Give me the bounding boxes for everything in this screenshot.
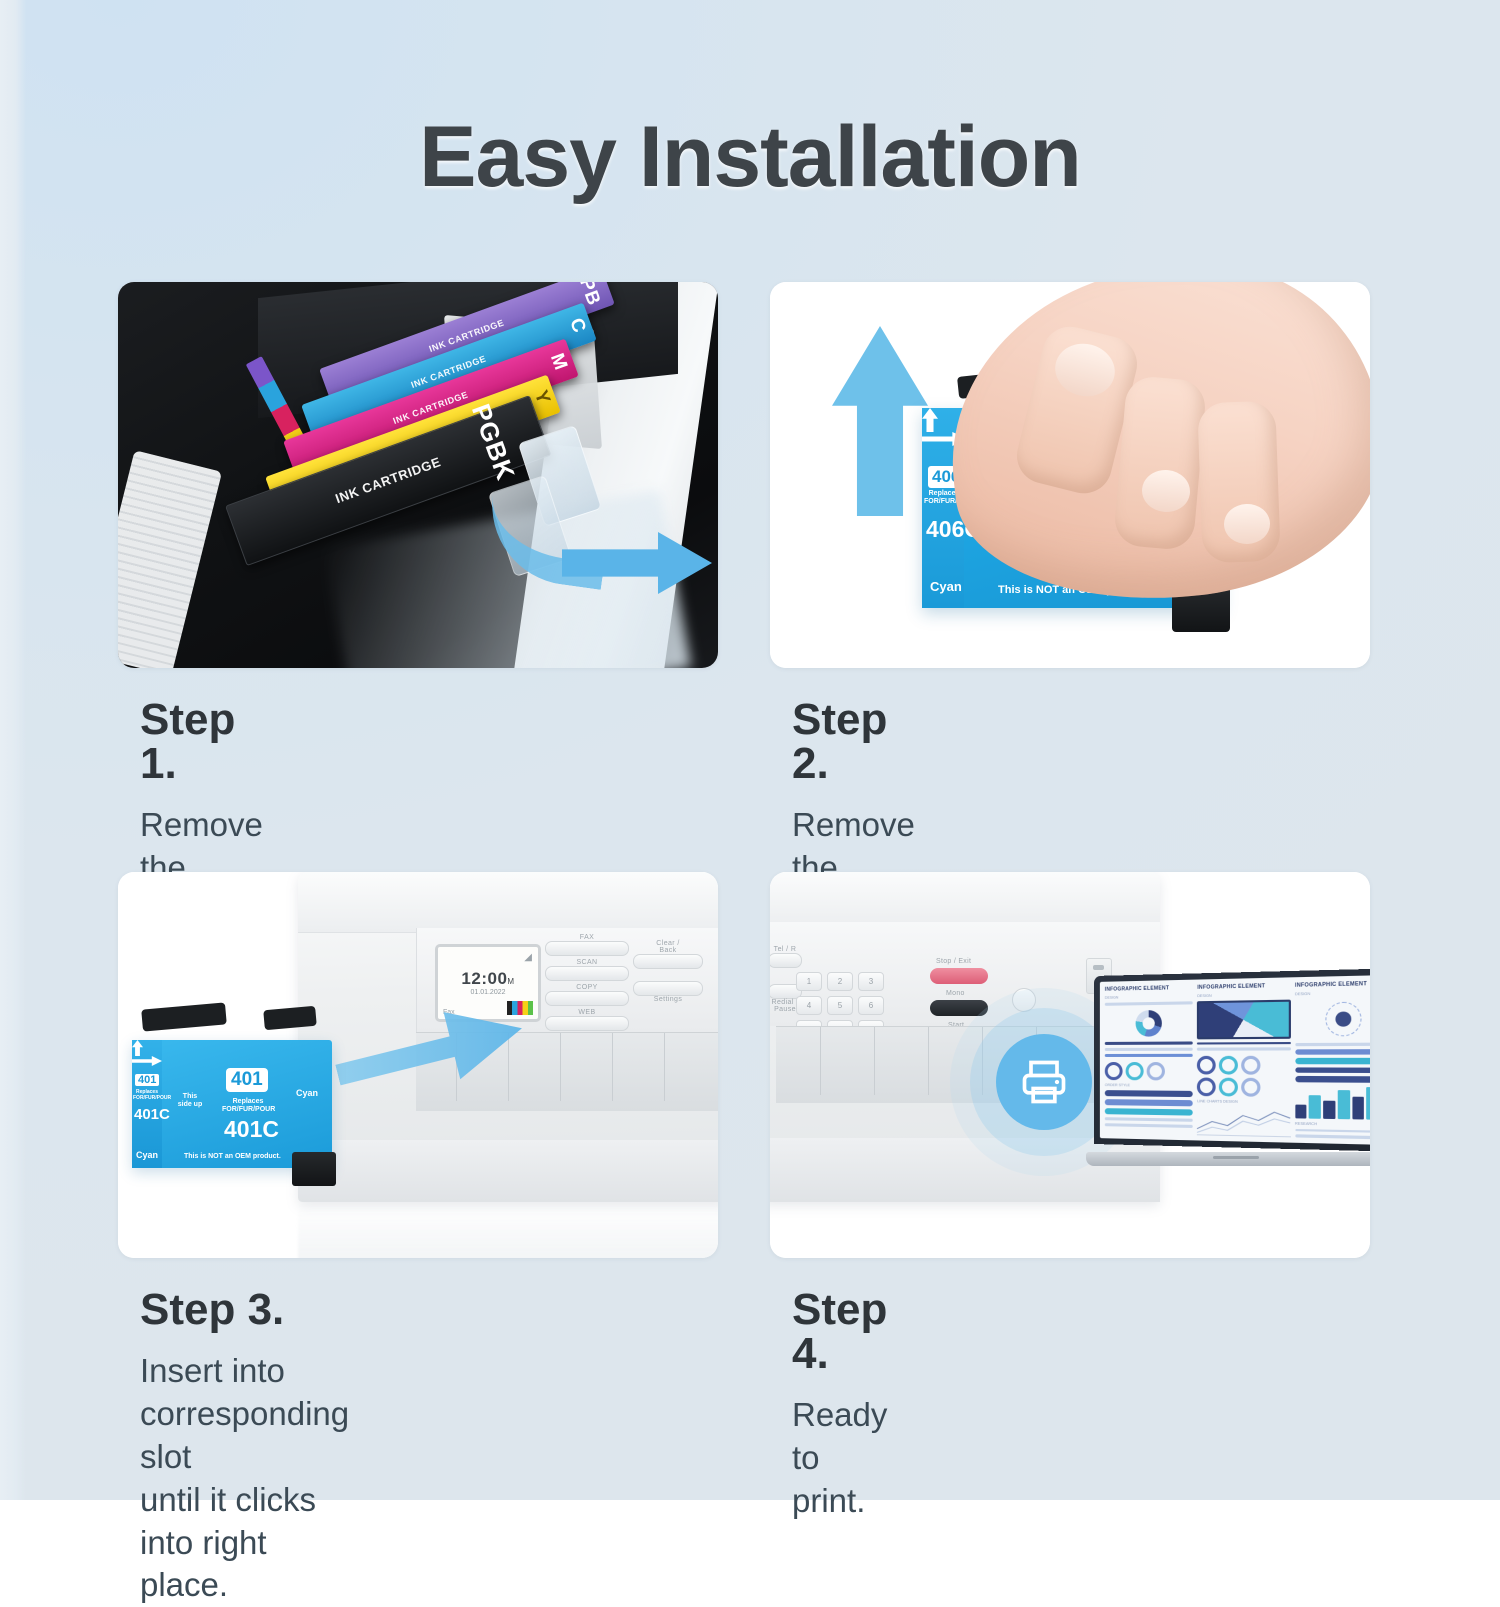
fax-key[interactable]	[545, 941, 629, 956]
keypad-key-6[interactable]: 6	[858, 996, 884, 1015]
this-side-up-label: This side up	[172, 1093, 208, 1109]
clear-back-key[interactable]	[633, 954, 703, 969]
oem-disclaimer: This is NOT an OEM product.	[184, 1153, 281, 1160]
step-heading: Step 2.	[792, 698, 922, 786]
printer-reflection	[298, 1202, 718, 1258]
infographic-column-1: INFOGRAPHIC ELEMENT DESIGN	[1105, 985, 1193, 1135]
lcd-time: 12:00M	[438, 969, 538, 989]
ink-level-bars	[507, 1001, 533, 1015]
cartridge-model: 401C	[224, 1116, 279, 1143]
clear-back-label: Clear / Back	[633, 940, 703, 954]
scan-button[interactable]: SCAN	[545, 959, 629, 981]
keypad-key-2[interactable]: 2	[827, 972, 853, 991]
cartridge-code: PGBK	[465, 400, 521, 485]
cartridge-chip	[292, 1152, 336, 1186]
web-button-label: WEB	[545, 1009, 629, 1016]
lcd-date: 01.01.2022	[438, 989, 538, 996]
ring-chart	[1241, 1056, 1260, 1075]
laptop: INFOGRAPHIC ELEMENT DESIGN	[1086, 976, 1370, 1166]
laptop-base	[1086, 1152, 1370, 1166]
insert-cartridge-scene: ◢ 12:00M 01.01.2022 Fax FAX	[118, 872, 718, 1258]
copy-button-label: COPY	[545, 984, 629, 991]
index-finger	[1113, 375, 1208, 551]
lcd-time-value: 12:00	[461, 969, 507, 988]
copy-button[interactable]: COPY	[545, 984, 629, 1006]
settings-label: Settings	[633, 996, 703, 1003]
printer-status-badge	[996, 1034, 1092, 1130]
laptop-screen: INFOGRAPHIC ELEMENT DESIGN	[1094, 968, 1370, 1152]
monitor-pie-chart	[1197, 1000, 1290, 1039]
printer-lid	[298, 872, 718, 933]
cartridge-black-tab	[141, 1002, 227, 1031]
printer-ribbon-cable	[118, 450, 222, 668]
percent-ring	[1219, 1078, 1238, 1097]
cartridge-label: INK CARTRIDGE	[334, 455, 443, 506]
ring-chart	[1197, 1056, 1216, 1075]
infographic-slides: INFOGRAPHIC ELEMENT DESIGN	[1100, 975, 1370, 1145]
copy-key[interactable]	[545, 991, 629, 1006]
settings-key[interactable]	[633, 981, 703, 996]
cartridge-side-colour: Cyan	[136, 1150, 158, 1160]
scan-button-label: SCAN	[545, 959, 629, 966]
promo-page: Easy Installation INK CARTRIDGE PB INK C…	[0, 0, 1500, 1500]
cartridge-side-replaces: Replaces FOR/FUR/POUR	[133, 1090, 161, 1101]
infographic-section-label: ORDER STYLE	[1105, 1083, 1193, 1088]
keypad-key-3[interactable]: 3	[858, 972, 884, 991]
infographic-subheading: DESIGN	[1105, 994, 1193, 1000]
infographic-subheading: DESIGN	[1295, 990, 1370, 996]
ring-chart	[1105, 1062, 1123, 1080]
printer-base	[298, 1140, 718, 1202]
cartridge-replaces-label: Replaces FOR/FUR/POUR	[222, 1098, 274, 1113]
infographic-heading: INFOGRAPHIC ELEMENT	[1197, 983, 1290, 991]
bar-chart	[1295, 1085, 1370, 1119]
power-button[interactable]	[1012, 988, 1036, 1012]
tel-r-key[interactable]	[770, 953, 802, 968]
cartridge-side-number: 401	[135, 1074, 159, 1086]
infographic-subheading: DESIGN	[1197, 992, 1290, 998]
keypad-key-1[interactable]: 1	[796, 972, 822, 991]
step-body: Insert into corresponding slot until it …	[140, 1350, 349, 1607]
mono-start-button[interactable]	[930, 1000, 988, 1016]
infographic-heading: INFOGRAPHIC ELEMENT	[1105, 985, 1193, 993]
mono-label: Mono	[946, 990, 965, 997]
infographic-column-3: INFOGRAPHIC ELEMENT DESIGN	[1295, 980, 1370, 1139]
cover-removal-scene: 406 Replaces FOR/FUR/POUR 406C Cyan This…	[770, 282, 1370, 668]
printer-lid	[770, 872, 1160, 927]
fax-button[interactable]: FAX	[545, 934, 629, 956]
panel-left-buttons: FAX SCAN COPY	[545, 934, 629, 1034]
keypad-key-5[interactable]: 5	[827, 996, 853, 1015]
cartridge-side-colour: Cyan	[930, 579, 962, 594]
step-heading: Step 1.	[140, 698, 276, 786]
scan-key[interactable]	[545, 966, 629, 981]
pull-up-arrow-icon	[832, 326, 928, 516]
keypad-key-4[interactable]: 4	[796, 996, 822, 1015]
panel-right-buttons: Clear / Back Settings	[633, 940, 703, 1006]
page-title: Easy Installation	[0, 108, 1500, 207]
clear-back-button[interactable]: Clear / Back	[633, 940, 703, 969]
infographic-heading: INFOGRAPHIC ELEMENT	[1295, 980, 1370, 989]
cartridge-number-badge: 401	[226, 1068, 268, 1092]
printer-lcd: ◢ 12:00M 01.01.2022 Fax	[435, 944, 541, 1022]
step-4-caption: Step 4. Ready to print.	[792, 1288, 887, 1523]
laptop-notch	[1213, 1156, 1259, 1159]
ready-to-print-scene: Tel / R Redial / Pause 1 2 3 4 5	[770, 872, 1370, 1258]
ring-chart	[1126, 1062, 1144, 1080]
step-2-image: 406 Replaces FOR/FUR/POUR 406C Cyan This…	[770, 282, 1370, 668]
tel-r-button[interactable]: Tel / R	[770, 946, 802, 968]
stop-exit-button[interactable]	[930, 968, 988, 984]
cartridge-401c: 401 Replaces FOR/FUR/POUR 401C Cyan This…	[132, 1040, 332, 1168]
cartridge-code: M	[545, 351, 571, 374]
line-chart	[1197, 1106, 1290, 1137]
cartridge-code: C	[564, 315, 590, 336]
percent-ring	[1241, 1078, 1260, 1097]
printer-icon	[1018, 1056, 1070, 1108]
ring-chart	[1219, 1056, 1238, 1075]
wifi-icon: ◢	[524, 952, 532, 963]
infographic-section-label: LINE CHARTS DESIGN	[1197, 1099, 1290, 1104]
step-body: Ready to print.	[792, 1394, 887, 1523]
stop-exit-label: Stop / Exit	[936, 958, 971, 965]
step-heading: Step 4.	[792, 1288, 887, 1376]
cartridge-side-model: 401C	[134, 1106, 170, 1123]
donut-chart	[1135, 1010, 1161, 1037]
lcd-meridiem: M	[507, 977, 514, 986]
step-4-image: Tel / R Redial / Pause 1 2 3 4 5	[770, 872, 1370, 1258]
tel-r-label: Tel / R	[770, 946, 802, 953]
web-button[interactable]: WEB	[545, 1009, 629, 1031]
percent-ring	[1197, 1077, 1216, 1096]
printer-carriage-scene: INK CARTRIDGE PB INK CARTRIDGE C INK CAR…	[118, 282, 718, 668]
step-3-image: ◢ 12:00M 01.01.2022 Fax FAX	[118, 872, 718, 1258]
step-heading: Step 3.	[140, 1288, 349, 1332]
ring-chart	[1147, 1062, 1165, 1080]
cartridge-colour-name: Cyan	[296, 1088, 318, 1098]
step-1-image: INK CARTRIDGE PB INK CARTRIDGE C INK CAR…	[118, 282, 718, 668]
infographic-section-label: RESEARCH	[1295, 1121, 1370, 1127]
step-3-caption: Step 3. Insert into corresponding slot u…	[140, 1288, 349, 1607]
radial-diagram	[1326, 1002, 1362, 1037]
fax-button-label: FAX	[545, 934, 629, 941]
infographic-column-2: INFOGRAPHIC ELEMENT DESIGN	[1197, 983, 1290, 1138]
settings-button[interactable]: Settings	[633, 981, 703, 1003]
web-key[interactable]	[545, 1016, 629, 1031]
